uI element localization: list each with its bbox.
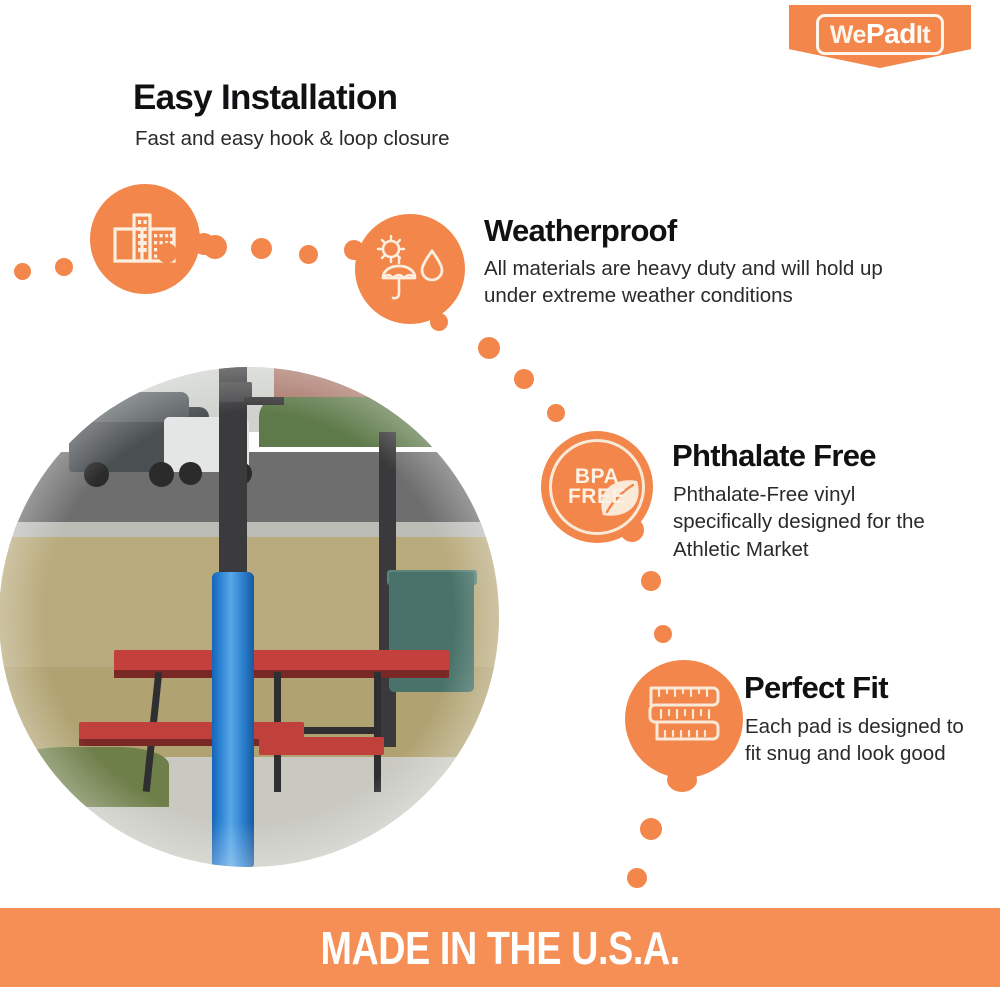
path-dot	[14, 263, 31, 280]
feature-desc-weatherproof: All materials are heavy duty and will ho…	[484, 255, 904, 310]
bpa-free-leaf-icon: BPA FREE	[541, 431, 653, 543]
bpa-line-1: BPA	[568, 467, 626, 487]
path-dot	[654, 625, 672, 643]
infographic-page: We Pad It Easy Installation Fast and eas…	[0, 0, 1000, 987]
measuring-tape-icon	[625, 660, 743, 778]
feature-desc-perfect-fit: Each pad is designed to fit snug and loo…	[745, 713, 975, 768]
brand-logo-it: It	[916, 23, 930, 48]
path-dot	[478, 337, 500, 359]
path-dot	[547, 404, 565, 422]
path-dot	[627, 868, 647, 888]
feature-title-phthalate-free: Phthalate Free	[672, 438, 876, 474]
feature-desc-easy-installation: Fast and easy hook & loop closure	[135, 125, 450, 152]
brand-logo-we: We	[830, 23, 866, 48]
made-in-usa-text: MADE IN THE U.S.A.	[320, 921, 679, 975]
made-in-usa-banner: MADE IN THE U.S.A.	[0, 908, 1000, 987]
path-dot	[203, 235, 227, 259]
building-installation-icon	[90, 184, 200, 294]
path-dot	[641, 571, 661, 591]
product-photo-scene	[0, 367, 499, 867]
path-dot	[640, 818, 662, 840]
feature-title-weatherproof: Weatherproof	[484, 213, 677, 249]
path-dot	[157, 243, 177, 263]
feature-desc-phthalate-free: Phthalate-Free vinyl specifically design…	[673, 481, 938, 563]
feature-title-perfect-fit: Perfect Fit	[744, 670, 888, 706]
brand-logo-banner: We Pad It	[789, 5, 971, 68]
sun-umbrella-raindrop-icon	[355, 214, 465, 324]
path-dot	[514, 369, 534, 389]
brand-logo-box: We Pad It	[816, 14, 944, 55]
path-dot	[299, 245, 318, 264]
product-photo	[0, 367, 499, 867]
bpa-line-2: FREE	[568, 487, 626, 507]
path-dot	[55, 258, 73, 276]
bpa-free-label: BPA FREE	[568, 467, 626, 507]
feature-title-easy-installation: Easy Installation	[133, 78, 397, 118]
path-dot	[251, 238, 272, 259]
brand-logo-pad: Pad	[866, 20, 916, 48]
